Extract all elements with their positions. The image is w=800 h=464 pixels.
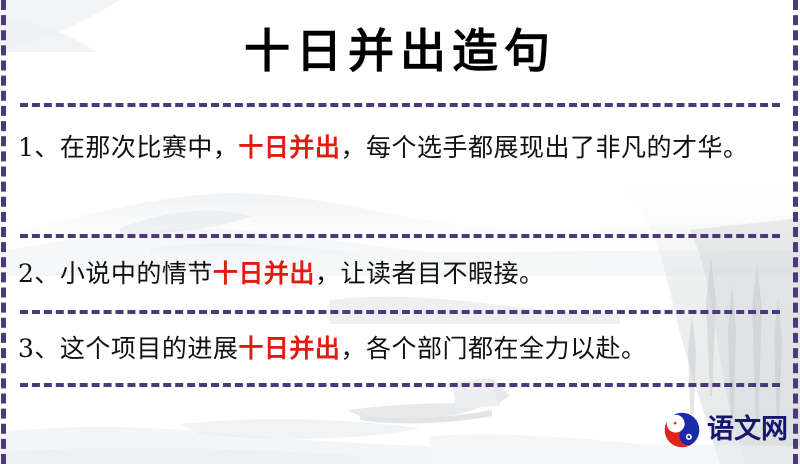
list-item: 3、这个项目的进展十日并出，各个部门都在全力以赴。	[18, 327, 780, 371]
site-logo-text: 语文网	[707, 415, 788, 445]
idiom-highlight: 十日并出	[238, 334, 340, 363]
site-logo[interactable]: 语文网	[663, 411, 788, 449]
idiom-highlight: 十日并出	[238, 133, 340, 162]
sentence-list: 1、在那次比赛中，十日并出，每个选手都展现出了非凡的才华。 2、小说中的情节十日…	[0, 0, 800, 464]
sentence-number: 2、	[18, 259, 60, 288]
sentence-number: 1、	[18, 133, 60, 162]
idiom-highlight: 十日并出	[213, 259, 315, 288]
list-item: 1、在那次比赛中，十日并出，每个选手都展现出了非凡的才华。	[18, 126, 780, 170]
sentence-text-before: 这个项目的进展	[60, 334, 239, 363]
sentence-number: 3、	[18, 334, 60, 363]
sentence-text-after: ，各个部门都在全力以赴。	[340, 334, 646, 363]
taiji-circle-logo-icon	[663, 411, 701, 449]
sentence-text-after: ，让读者目不暇接。	[315, 259, 545, 288]
page-root: 十日并出造句 1、在那次比赛中，十日并出，每个选手都展现出了非凡的才华。 2、小…	[0, 0, 800, 464]
sentence-text-after: ，每个选手都展现出了非凡的才华。	[340, 133, 748, 162]
sentence-text-before: 小说中的情节	[60, 259, 213, 288]
list-item: 2、小说中的情节十日并出，让读者目不暇接。	[18, 252, 780, 296]
sentence-text-before: 在那次比赛中，	[60, 133, 239, 162]
